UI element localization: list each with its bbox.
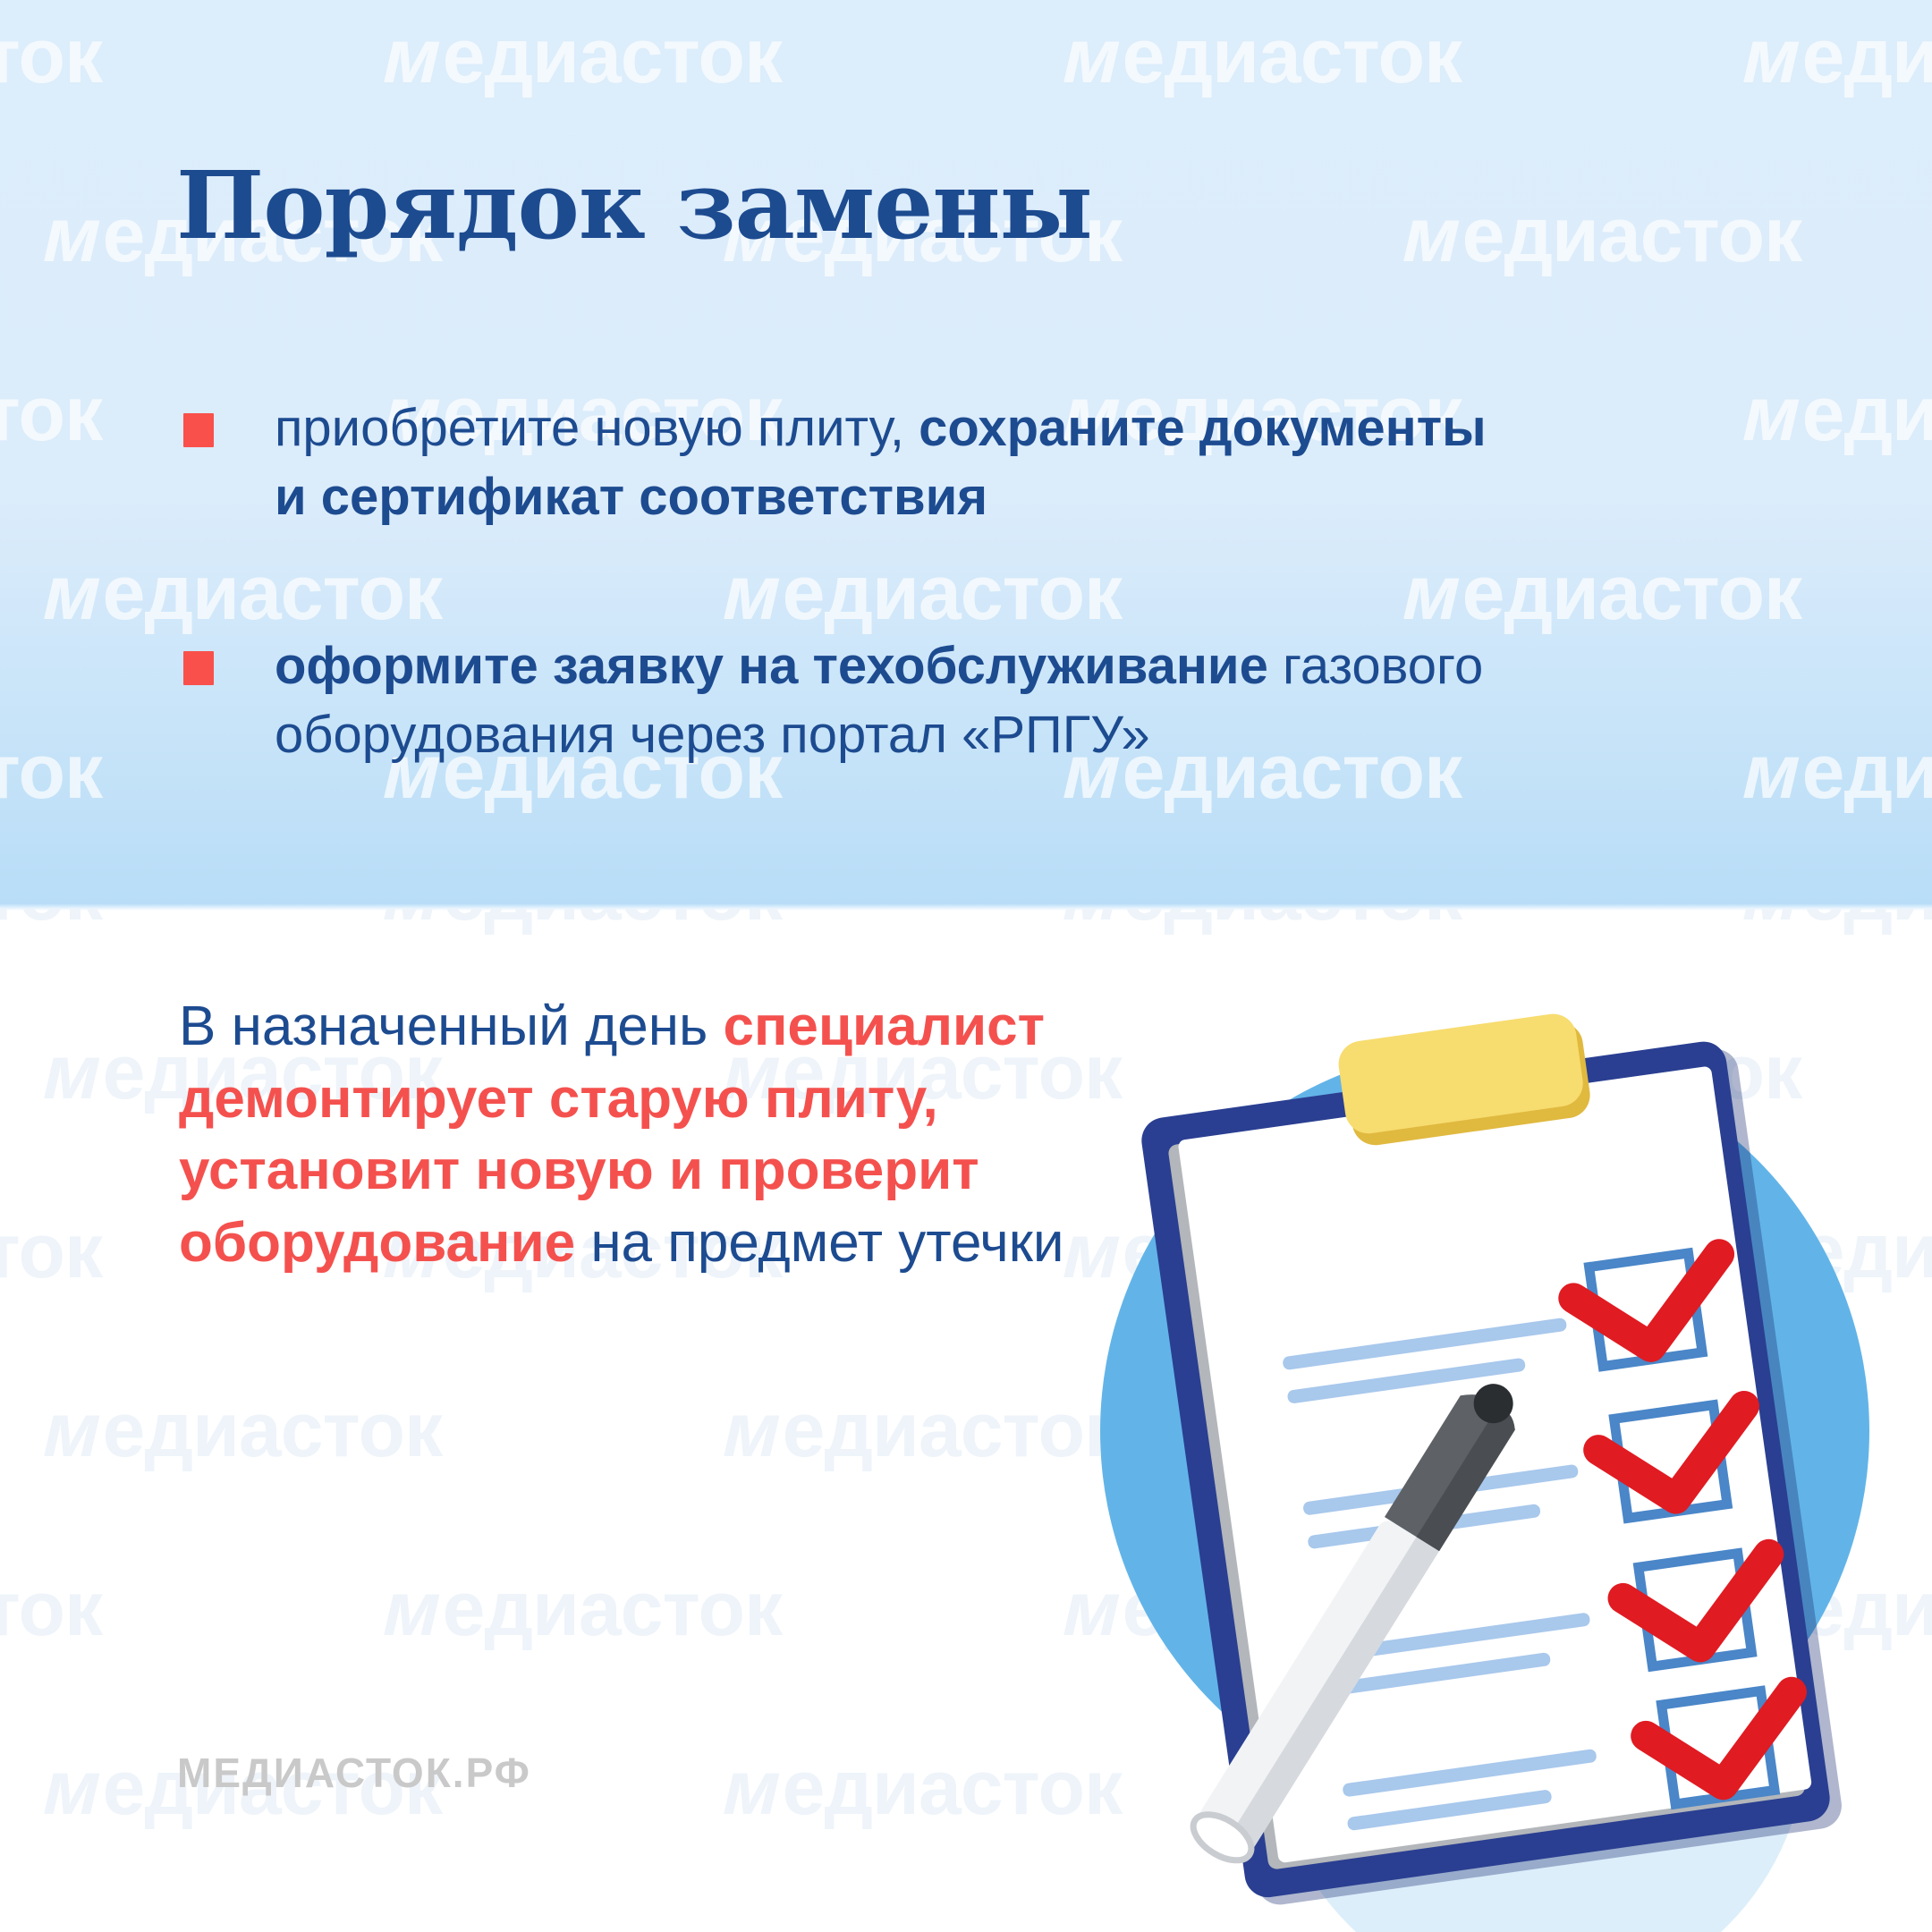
- red-square-bullet-icon: [183, 651, 214, 685]
- watermark-text: медиасток: [1064, 909, 1462, 932]
- list-item: оформите заявку на техобслуживание газов…: [183, 631, 1722, 769]
- poster-root: медиастокмедиастокмедиастокмедиастокмеди…: [0, 0, 1932, 1932]
- watermark-text: медиасток: [385, 909, 782, 932]
- watermark-text: медиасток: [0, 376, 102, 453]
- watermark-text: медиасток: [1744, 376, 1932, 453]
- bullet-list: приобретите новую плиту, сохраните докум…: [183, 394, 1722, 770]
- watermark-text: медиасток: [1744, 18, 1932, 95]
- watermark-text: медиасток: [0, 733, 102, 810]
- page-title: Порядок замены: [176, 159, 1092, 252]
- watermark-text: медиасток: [1744, 909, 1932, 932]
- watermark-text: медиасток: [1744, 733, 1932, 810]
- watermark-text: медиасток: [0, 18, 102, 95]
- band-bottom-edge: [0, 903, 1932, 911]
- watermark-text: медиасток: [1404, 197, 1801, 274]
- body-paragraph: В назначенный день специалист демонтируе…: [179, 991, 1100, 1279]
- watermark-text: медиасток: [385, 1571, 782, 1648]
- bullet-bold-2: оформите заявку на техобслуживание: [275, 637, 1268, 695]
- watermark-text: медиасток: [0, 1213, 102, 1290]
- watermark-text: медиасток: [0, 909, 102, 932]
- watermark-text: медиасток: [1064, 18, 1462, 95]
- red-square-bullet-icon: [183, 413, 214, 447]
- bullet-text-1: приобретите новую плиту, сохраните докум…: [275, 394, 1527, 531]
- paragraph-lead: В назначенный день: [179, 996, 724, 1057]
- watermark-text: медиасток: [45, 1392, 442, 1469]
- list-item: приобретите новую плиту, сохраните докум…: [183, 394, 1722, 531]
- site-footer-label: МЕДИАСТОК.РФ: [177, 1749, 531, 1797]
- paragraph-tail: на предмет утечки: [575, 1212, 1063, 1274]
- clipboard-checklist-illustration: [1038, 948, 1932, 1932]
- watermark-text: медиасток: [385, 18, 782, 95]
- bullet-lead-1: приобретите новую плиту,: [275, 399, 919, 457]
- watermark-text: медиасток: [0, 1571, 102, 1648]
- bullet-text-2: оформите заявку на техобслуживание газов…: [275, 631, 1527, 769]
